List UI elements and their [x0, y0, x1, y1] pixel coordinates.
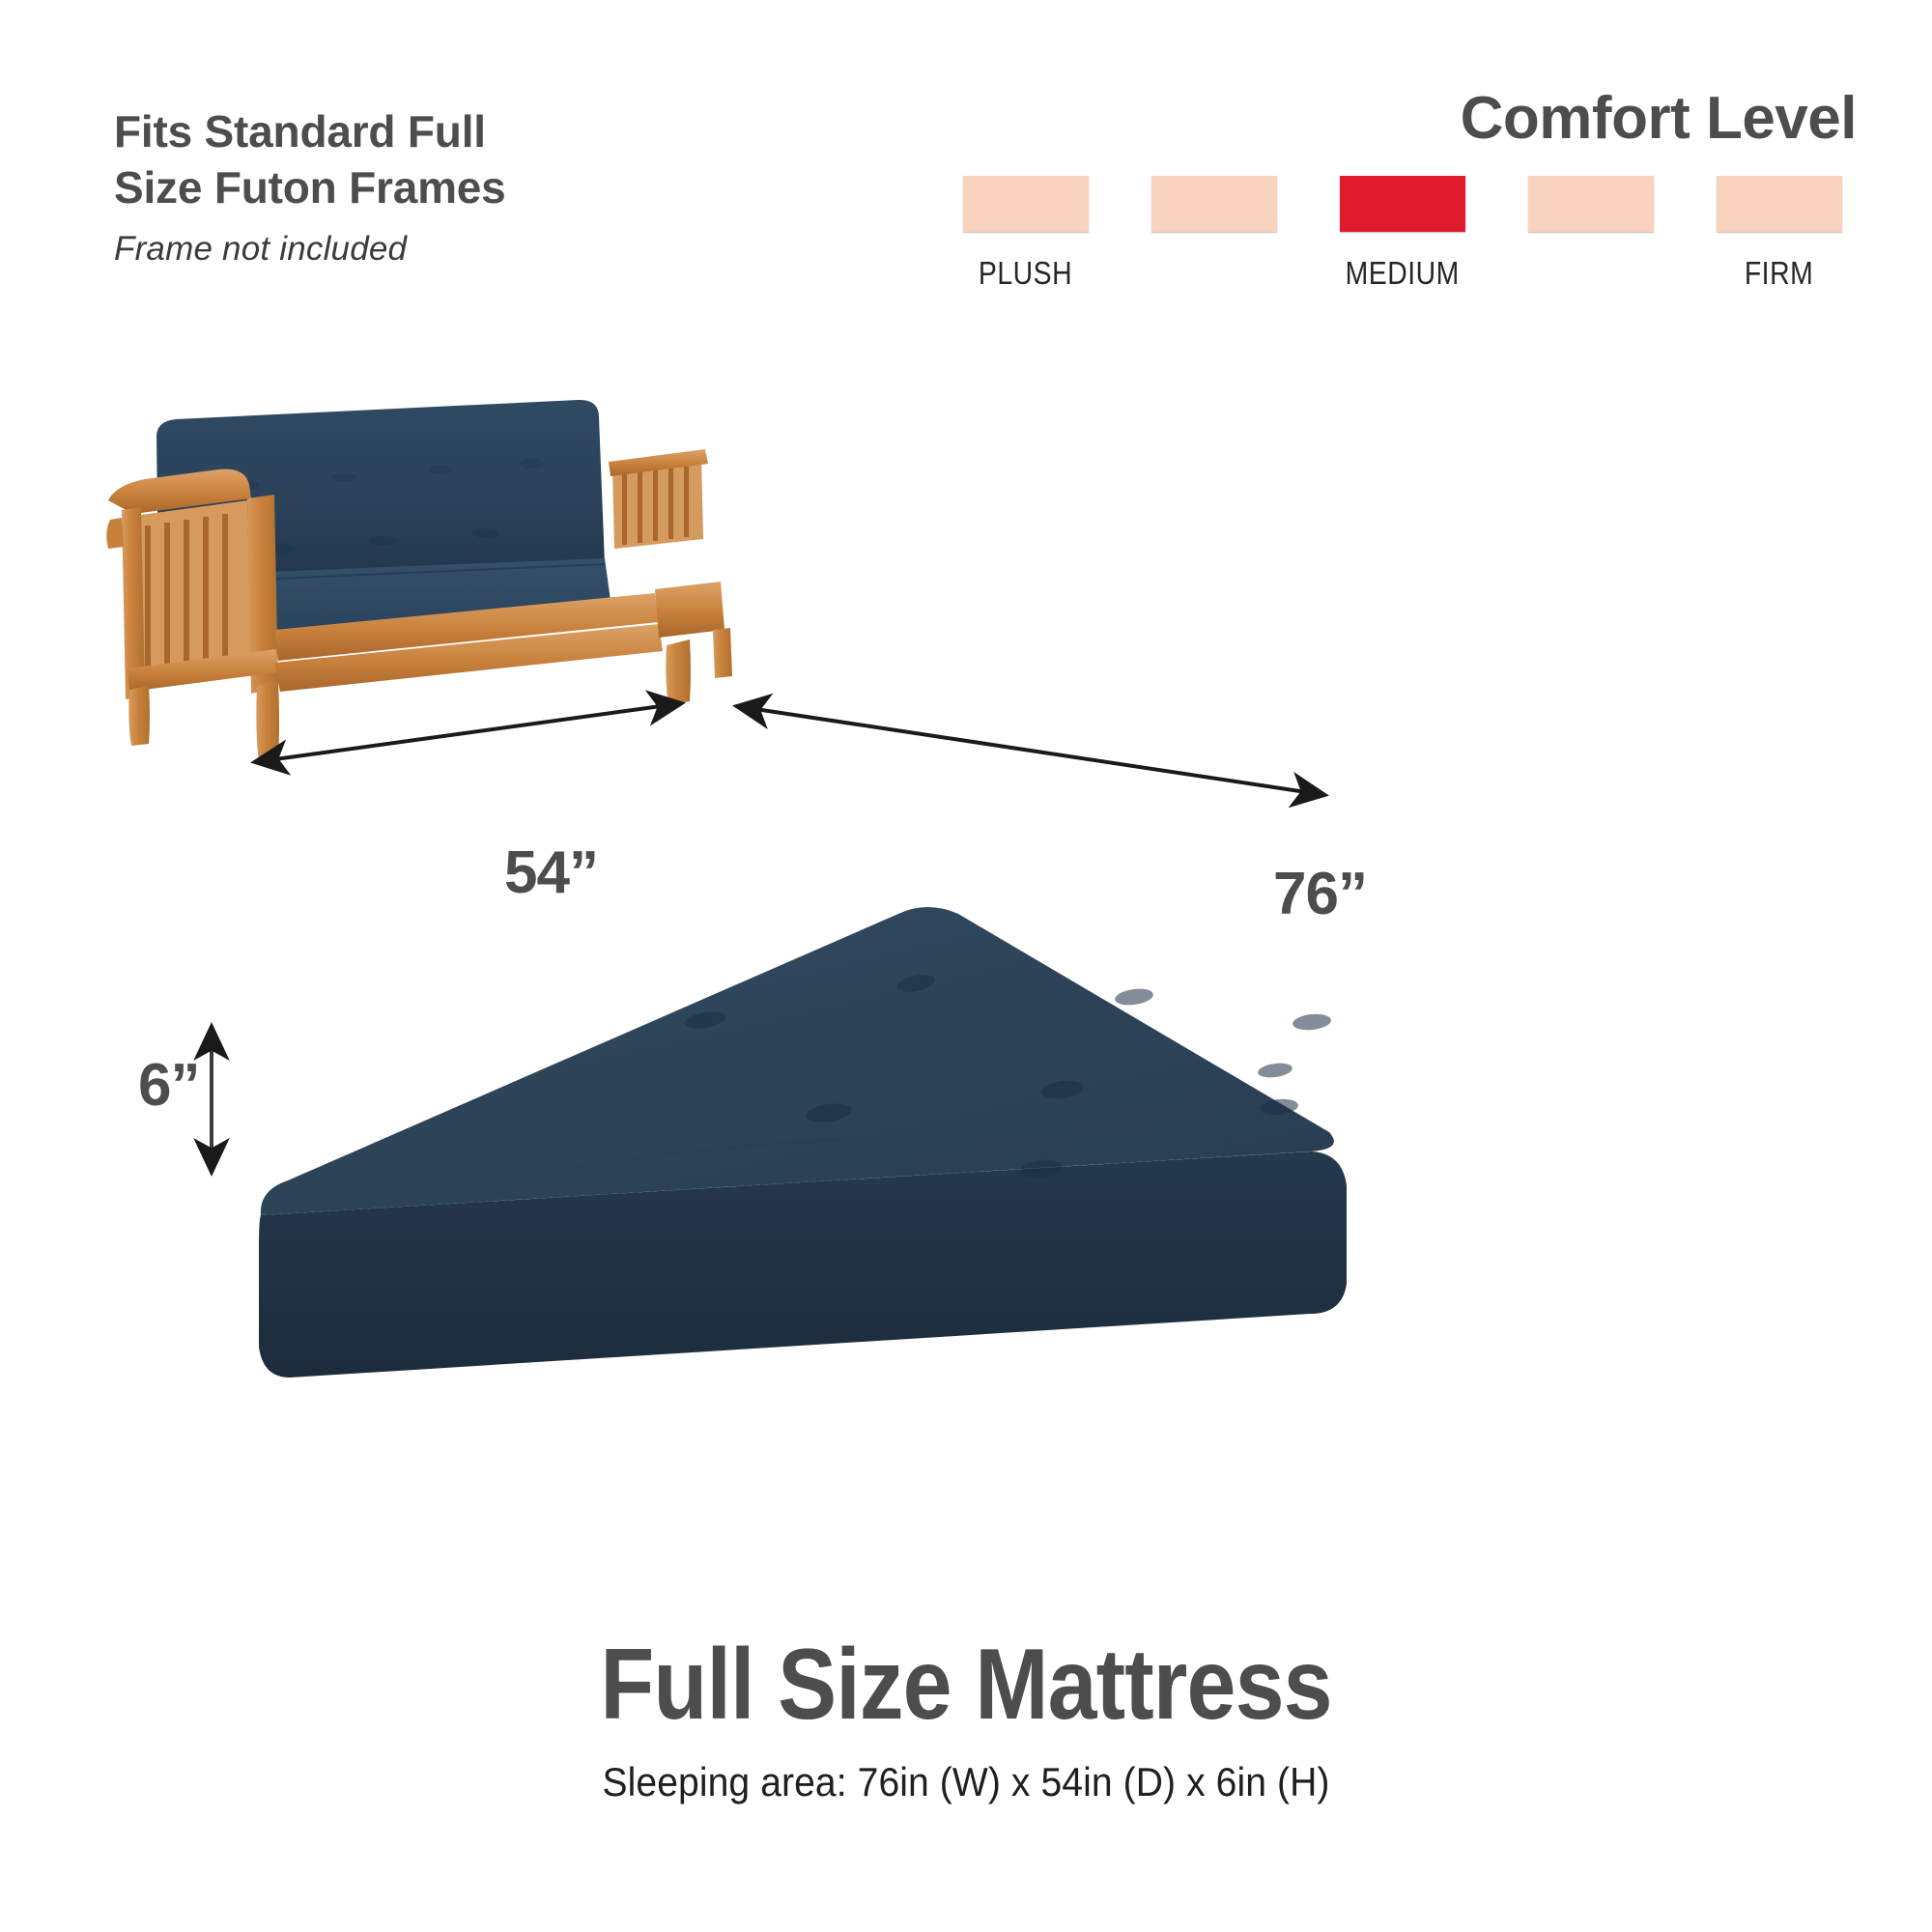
dimension-label-depth: 54” [504, 838, 598, 907]
comfort-level-item-plush[interactable]: PLUSH [949, 176, 1103, 292]
futon-sofa-illustration [75, 340, 829, 775]
comfort-level-scale: PLUSH MEDIUM FIRM [949, 176, 1857, 292]
comfort-level-item-firm[interactable]: FIRM [1702, 176, 1857, 292]
frame-not-included-note: Frame not included [114, 230, 655, 269]
product-title: Full Size Mattress [116, 1633, 1816, 1738]
comfort-swatch-4[interactable] [1528, 176, 1654, 232]
comfort-level-item-2[interactable] [1137, 176, 1292, 255]
futon-left-arm [106, 469, 278, 699]
comfort-level-title: Comfort Level [949, 89, 1857, 149]
product-caption-block: Full Size Mattress Sleeping area: 76in (… [0, 1633, 1932, 1805]
fits-frames-title: Fits Standard Full Size Futon Frames [114, 104, 655, 216]
comfort-label-medium: MEDIUM [1346, 255, 1460, 292]
dimension-label-height: 6” [138, 1051, 199, 1120]
comfort-swatch-1[interactable] [963, 176, 1089, 232]
product-sleeping-area: Sleeping area: 76in (W) x 54in (D) x 6in… [68, 1759, 1864, 1805]
fits-frames-block: Fits Standard Full Size Futon Frames Fra… [114, 104, 655, 269]
comfort-level-item-4[interactable] [1514, 176, 1668, 255]
comfort-swatch-5[interactable] [1717, 176, 1842, 232]
comfort-level-block: Comfort Level PLUSH MEDIUM FIRM [949, 89, 1857, 292]
comfort-swatch-2[interactable] [1151, 176, 1277, 232]
comfort-swatch-3-selected[interactable] [1340, 176, 1465, 232]
comfort-label-firm: FIRM [1745, 255, 1813, 292]
comfort-level-item-medium[interactable]: MEDIUM [1325, 176, 1480, 292]
dimension-label-width: 76” [1273, 860, 1367, 928]
mattress-illustration [222, 831, 1729, 1613]
comfort-label-plush: PLUSH [979, 255, 1072, 292]
futon-right-arm-slats [609, 449, 708, 549]
